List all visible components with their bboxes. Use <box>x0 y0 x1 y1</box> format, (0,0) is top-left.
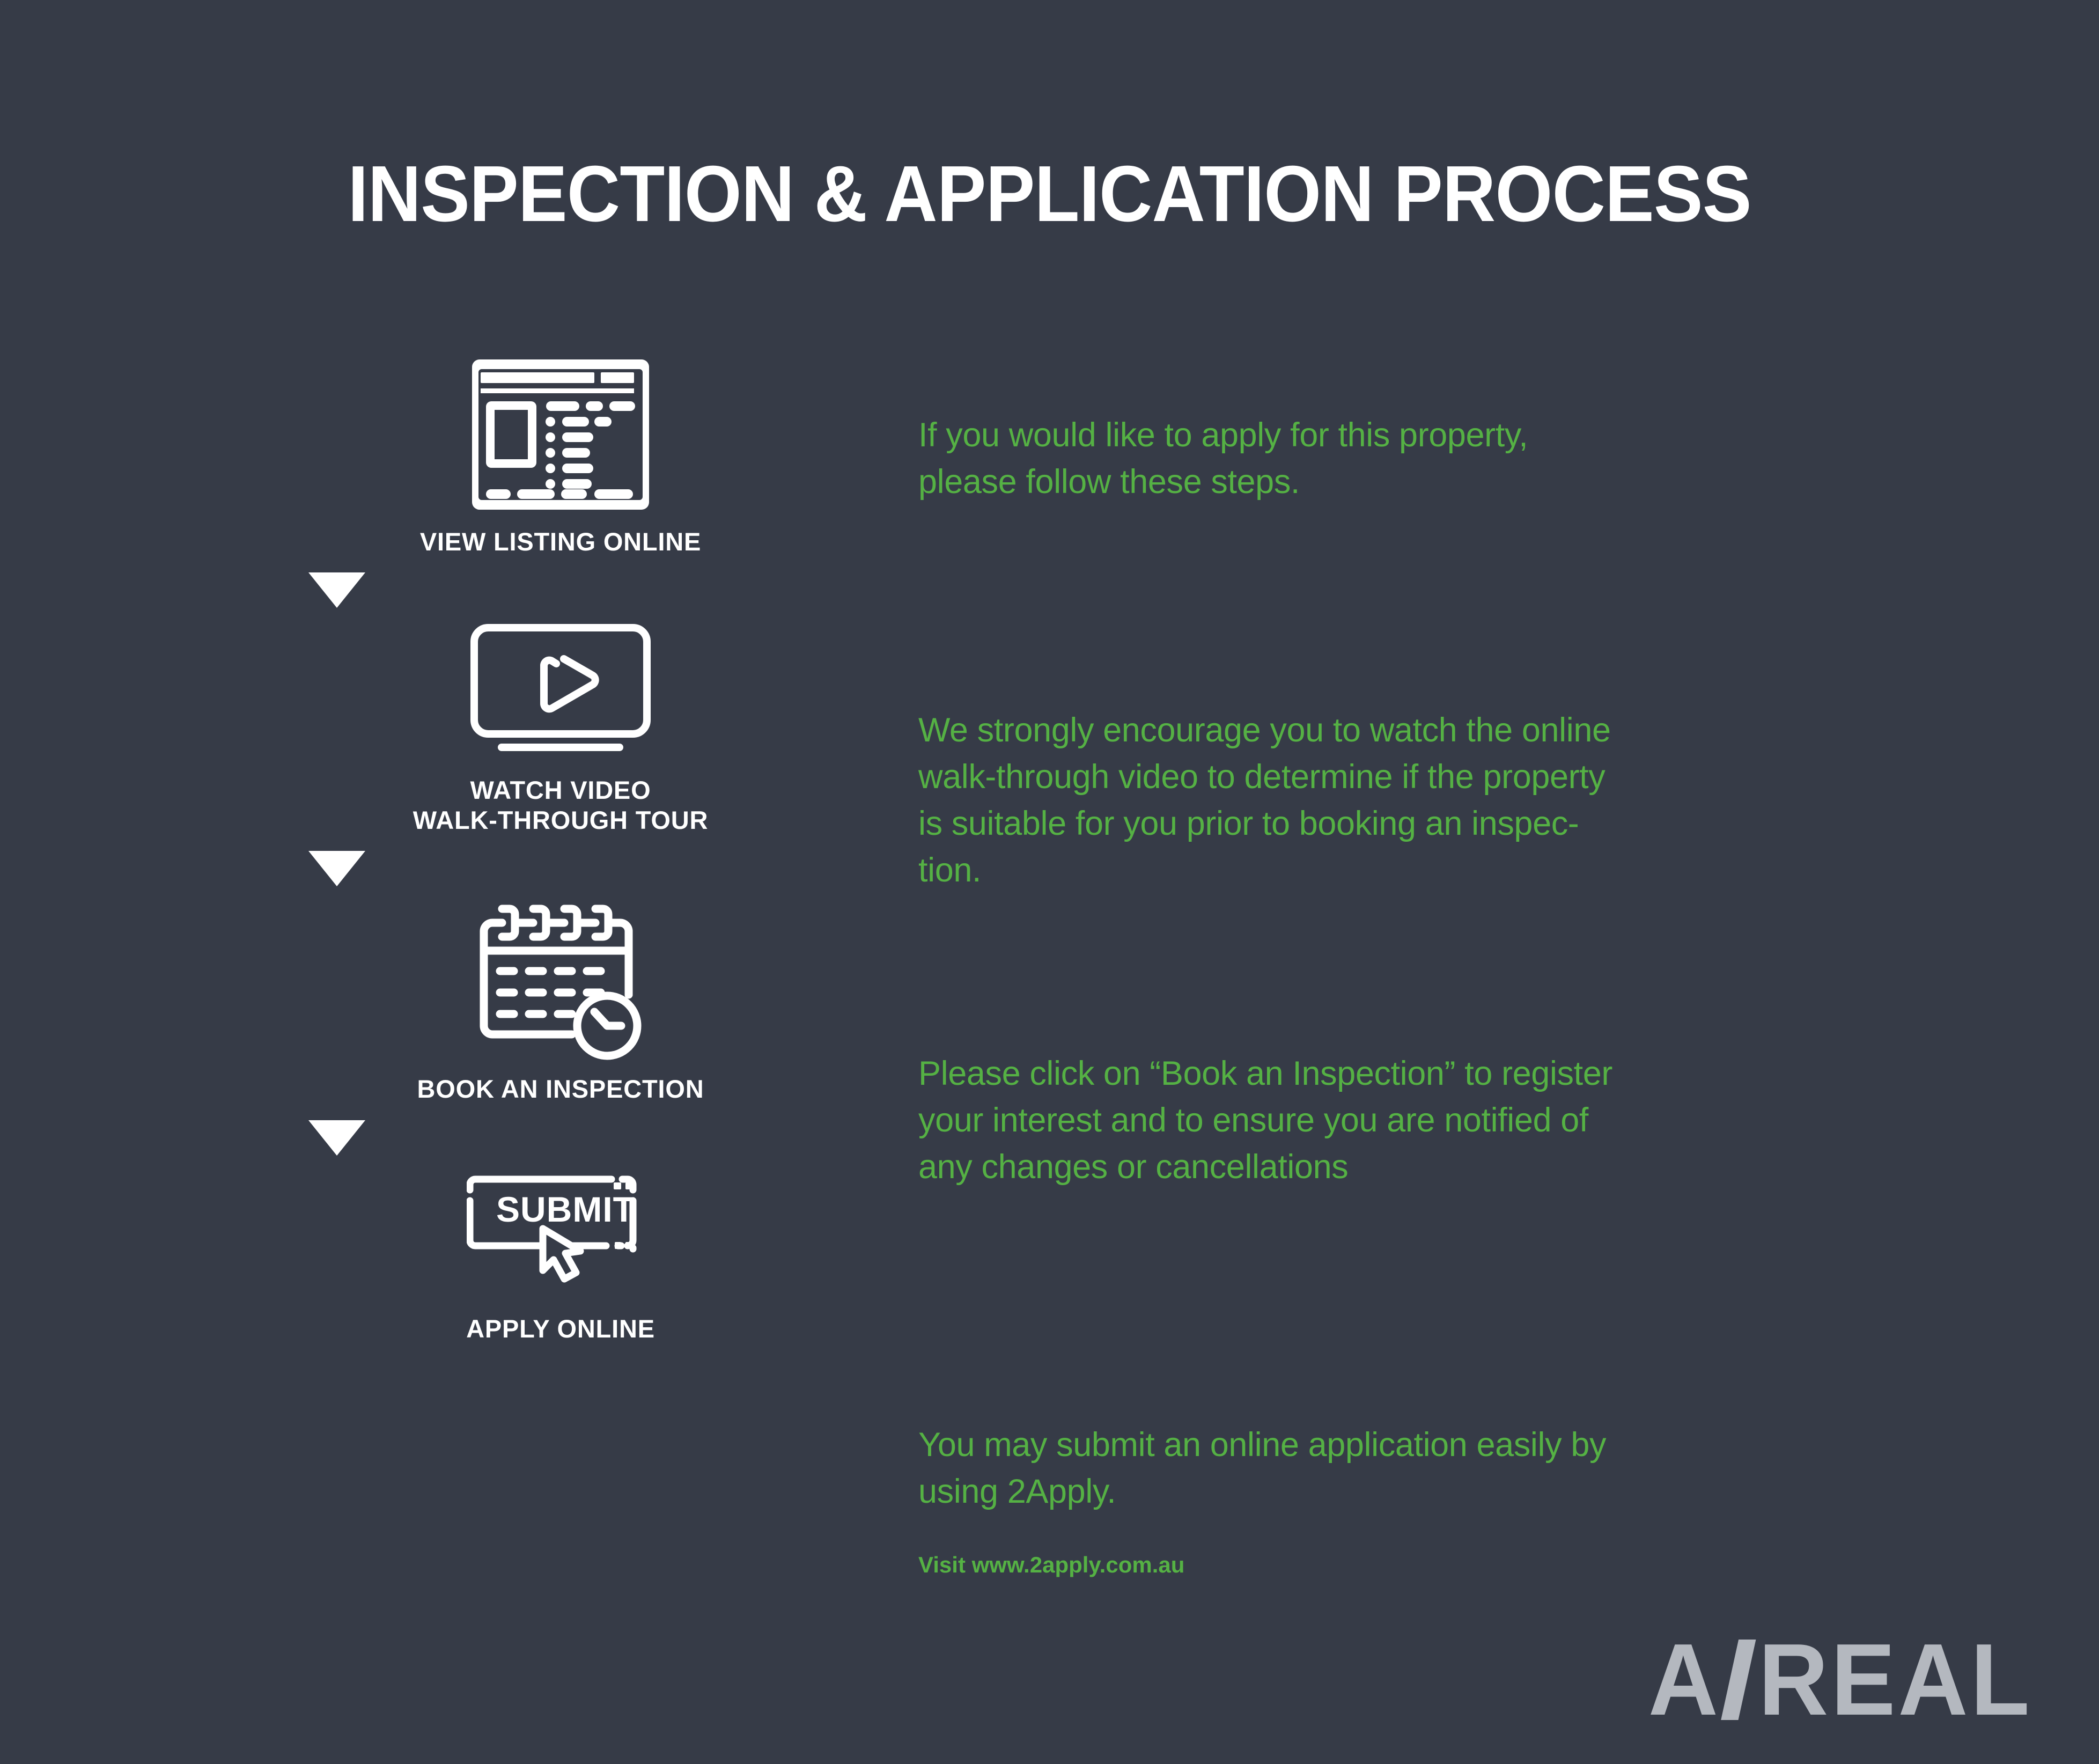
process-flow: VIEW LISTING ONLINE WATCH VIDEO WALK-THR <box>308 354 813 1343</box>
flow-arrow-down-icon <box>308 851 365 886</box>
paragraph-book-inspection: Please click on “Book an Inspection” to … <box>918 1050 1889 1190</box>
video-play-monitor-icon <box>469 623 652 763</box>
submit-button-cursor-icon: SUBMIT <box>467 1171 654 1302</box>
brand-logo-areal: A REAL <box>1648 1629 2032 1731</box>
paragraph-apply-online: You may submit an online application eas… <box>918 1422 1889 1515</box>
logo-slash-icon <box>1721 1640 1756 1720</box>
step-label: VIEW LISTING ONLINE <box>420 527 701 556</box>
step-apply-online: SUBMIT APPLY ONLINE <box>308 1171 813 1343</box>
step-label: APPLY ONLINE <box>466 1314 655 1343</box>
logo-text-left: A <box>1648 1629 1720 1731</box>
flow-arrow-down-icon <box>308 572 365 608</box>
flow-arrow-down-icon <box>308 1120 365 1156</box>
browser-listing-icon <box>472 354 649 515</box>
step-watch-video-walk-through-tour: WATCH VIDEO WALK-THROUGH TOUR <box>308 623 813 835</box>
step-view-listing-online: VIEW LISTING ONLINE <box>308 354 813 556</box>
step-label: BOOK AN INSPECTION <box>417 1074 704 1104</box>
step-book-an-inspection: BOOK AN INSPECTION <box>308 901 813 1104</box>
page-title: INSPECTION & APPLICATION PROCESS <box>73 155 2026 234</box>
visit-url-link[interactable]: Visit www.2apply.com.au <box>918 1552 1184 1578</box>
logo-text-right: REAL <box>1758 1629 2032 1731</box>
infographic-page: INSPECTION & APPLICATION PROCESS <box>0 0 2099 1764</box>
submit-icon-text: SUBMIT <box>496 1189 635 1229</box>
step-label: WATCH VIDEO WALK-THROUGH TOUR <box>413 775 709 835</box>
calendar-clock-icon <box>472 901 649 1062</box>
paragraph-intro: If you would like to apply for this prop… <box>918 412 1889 505</box>
paragraph-watch-video: We strongly encourage you to watch the o… <box>918 707 1889 894</box>
